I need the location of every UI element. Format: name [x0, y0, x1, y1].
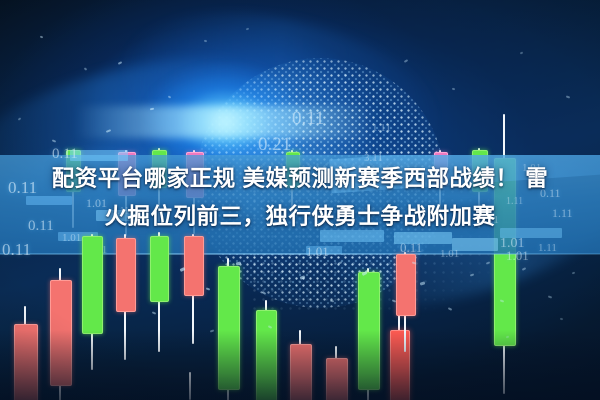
candle-body [358, 272, 380, 390]
headline-line-1: 配资平台哪家正规 美媒预测新赛季西部战绩！ 雷 [0, 160, 600, 198]
headline: 配资平台哪家正规 美媒预测新赛季西部战绩！ 雷 火掘位列前三，独行侠勇士争战附加… [0, 160, 600, 236]
candle-body [14, 324, 38, 400]
candle-body [184, 236, 204, 296]
headline-line-2: 火掘位列前三，独行侠勇士争战附加赛 [0, 198, 600, 236]
candle-body [50, 280, 72, 386]
candle-body [116, 238, 136, 312]
candle-body [150, 236, 169, 302]
candle-body [256, 310, 277, 400]
candle-body [82, 236, 103, 334]
candle-body [396, 254, 416, 316]
candle-body [290, 344, 312, 400]
candle-body [326, 358, 348, 400]
candle-body [218, 266, 240, 390]
banner-image: 0.110.111.011.110.111.010.111.010.110.21… [0, 0, 600, 400]
